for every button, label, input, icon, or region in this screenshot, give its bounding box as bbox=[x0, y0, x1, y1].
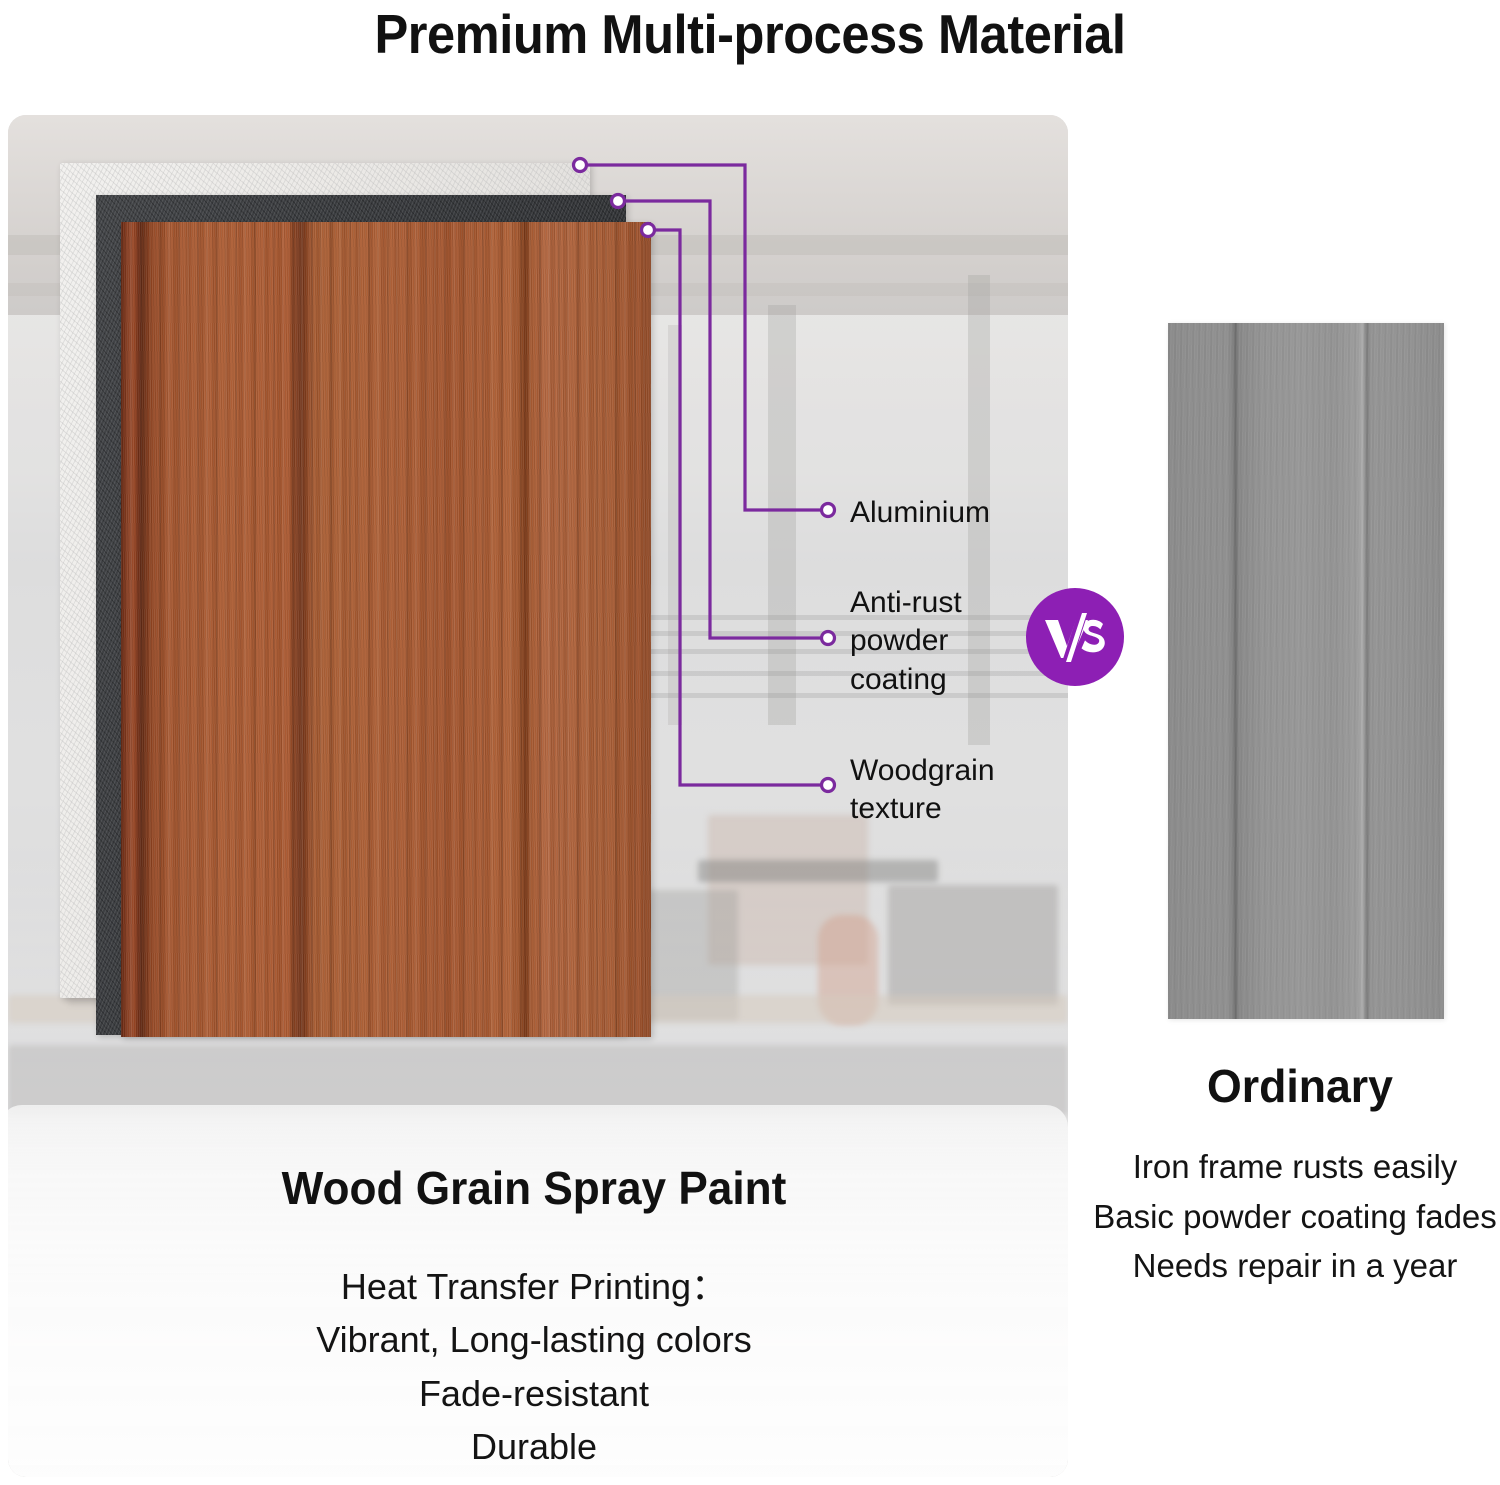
callout-end-dot-woodgrain bbox=[822, 779, 835, 792]
comparison-drawback-line: Basic powder coating fades bbox=[1090, 1192, 1500, 1242]
product-description-panel: Wood Grain Spray Paint Heat Transfer Pri… bbox=[8, 1105, 1068, 1477]
callout-label-woodgrain: Woodgrain texture bbox=[850, 752, 995, 829]
vs-badge bbox=[1026, 588, 1124, 686]
comparison-heading: Ordinary bbox=[1106, 1059, 1494, 1113]
callout-label-aluminium: Aluminium bbox=[850, 494, 990, 532]
product-feature-list: Heat Transfer Printing： Vibrant, Long-la… bbox=[8, 1260, 1068, 1473]
infographic-page: Premium Multi-process Material bbox=[0, 0, 1500, 1485]
callout-label-anti-rust: Anti-rust powder coating bbox=[850, 584, 962, 699]
product-feature-line: Fade-resistant bbox=[8, 1367, 1068, 1420]
product-heading: Wood Grain Spray Paint bbox=[21, 1161, 1046, 1215]
comparison-drawback-line: Needs repair in a year bbox=[1090, 1241, 1500, 1291]
product-feature-line: Vibrant, Long-lasting colors bbox=[8, 1313, 1068, 1366]
product-feature-line: Durable bbox=[8, 1420, 1068, 1473]
page-title: Premium Multi-process Material bbox=[60, 2, 1440, 66]
comparison-drawback-list: Iron frame rusts easily Basic powder coa… bbox=[1090, 1142, 1500, 1291]
product-feature-line: Heat Transfer Printing： bbox=[8, 1260, 1068, 1313]
callout-end-dot-anti-rust bbox=[822, 632, 835, 645]
callout-end-dot-aluminium bbox=[822, 504, 835, 517]
callout-source-dot-aluminium bbox=[574, 159, 587, 172]
vs-icon bbox=[1041, 611, 1109, 663]
ordinary-panel-image bbox=[1168, 323, 1444, 1019]
comparison-drawback-line: Iron frame rusts easily bbox=[1090, 1142, 1500, 1192]
callout-source-dot-anti-rust bbox=[612, 195, 625, 208]
callout-source-dot-woodgrain bbox=[642, 224, 655, 237]
